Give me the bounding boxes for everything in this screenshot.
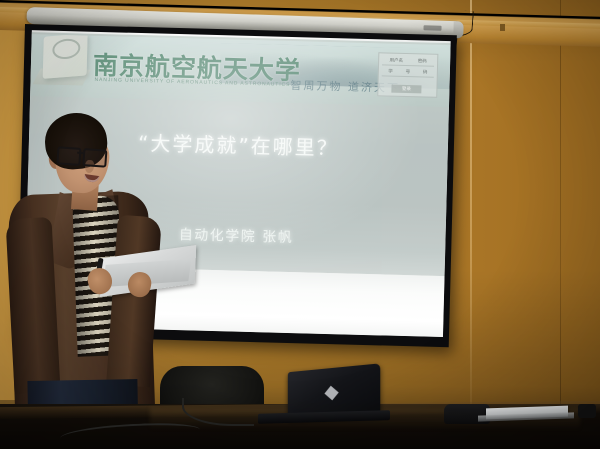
- university-seal-icon: [43, 34, 88, 79]
- glasses-icon: [57, 146, 108, 164]
- glasses-lens-right: [82, 148, 107, 168]
- slide-banner: 南京航空航天大学 NANJING UNIVERSITY OF AERONAUTI…: [30, 34, 450, 107]
- login-row-secondary: 学 号 码: [382, 66, 434, 77]
- desk-object: [578, 404, 596, 418]
- glasses-lens-left: [56, 146, 81, 166]
- presenter-sleeve-left: [5, 217, 60, 394]
- lecture-photo: 南京航空航天大学 NANJING UNIVERSITY OF AERONAUTI…: [0, 0, 600, 449]
- rail-clip: [500, 24, 505, 31]
- login-label-username: 用户名: [389, 57, 403, 63]
- login-button[interactable]: 登录: [391, 85, 421, 94]
- wall-seam: [470, 0, 472, 449]
- housing-label: [423, 25, 441, 31]
- login-label-password: 密码: [418, 58, 427, 64]
- login-cell-a: 学: [388, 68, 393, 74]
- laptop-logo-icon: [324, 386, 338, 401]
- login-row-username: 用户名 密码: [382, 55, 434, 66]
- glasses-bridge: [77, 152, 83, 154]
- login-cell-b: 号: [406, 68, 411, 74]
- wall-seam: [560, 0, 561, 449]
- login-form-widget[interactable]: 用户名 密码 学 号 码 登录: [377, 52, 438, 98]
- login-cell-c: 码: [423, 69, 428, 75]
